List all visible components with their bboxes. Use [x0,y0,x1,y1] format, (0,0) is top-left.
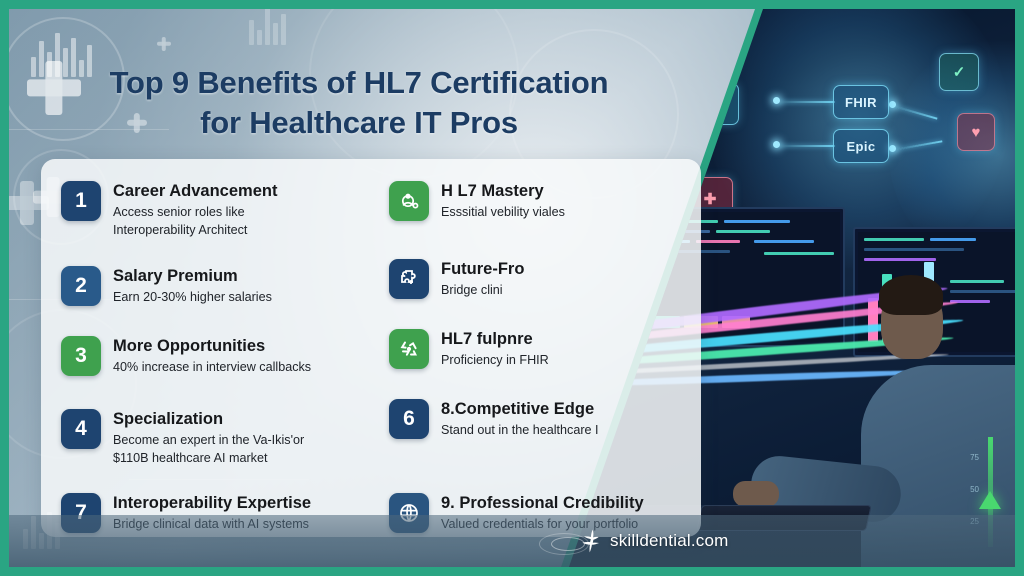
benefit-heading: H L7 Mastery [441,182,565,201]
benefit-item-3[interactable]: 3 More Opportunities 40% increase in int… [61,336,311,377]
puzzle-cross-icon [389,259,429,299]
benefit-item-hl7-fhir[interactable]: HL7 fulpnre Proficiency in FHIR [389,329,549,370]
network-link [777,101,835,103]
poster-canvas: FHIR Epic ▲ ✚ ⌂ ✚ ▣ ✓ ♥ [9,9,1015,567]
user-network-icon [389,181,429,221]
network-link [777,145,835,147]
network-node-dot [889,145,896,152]
network-node-epic: Epic [833,129,889,163]
benefit-number-badge: 6 [389,399,429,439]
benefit-subtext: Proficiency in FHIR [441,352,549,370]
person-hand [733,481,779,507]
benefit-item-future-proof[interactable]: Future-Fro Bridge clini [389,259,524,300]
person-hair [879,275,943,315]
page-title: Top 9 Benefits of HL7 Certification for … [9,63,709,142]
benefit-heading: More Opportunities [113,337,311,356]
benefit-number-badge: 3 [61,336,101,376]
benefit-item-hl7-mastery[interactable]: H L7 Mastery Esssitial vebility viales [389,181,565,222]
benefit-number-badge: 2 [61,266,101,306]
medical-cross-icon [157,37,171,51]
benefit-heading: Salary Premium [113,267,272,286]
network-node-dot [773,97,780,104]
network-node-epic-label: Epic [846,139,875,154]
growth-arrow-icon [979,491,1001,509]
benefit-subtext: Bridge clini [441,282,524,300]
benefits-card: 1 Career Advancement Access senior roles… [41,159,701,537]
benefit-subtext: Esssitial vebility viales [441,204,565,222]
benefit-subtext: 40% increase in interview callbacks [113,359,311,377]
brand-name: skilldential.com [610,531,728,551]
recycle-icon [389,329,429,369]
benefit-item-1[interactable]: 1 Career Advancement Access senior roles… [61,181,277,240]
benefit-subtext: Stand out in the healthcare I [441,422,599,440]
footer-bar [9,515,1015,567]
benefit-heading: Specialization [113,410,304,429]
network-node-dot [773,141,780,148]
axis-tick-label: 50 [970,485,979,494]
skilldential-bird-icon [581,529,603,553]
benefit-item-4[interactable]: 4 Specialization Become an expert in the… [61,409,304,468]
benefit-heading: 8.Competitive Edge [441,400,599,419]
brand-logo[interactable]: skilldential.com [581,529,728,553]
benefit-subtext: Become an expert in the Va-Ikis'or $110B… [113,432,304,468]
network-node-dot [889,101,896,108]
benefit-heading: Career Advancement [113,182,277,201]
benefit-heading: Interoperability Expertise [113,494,311,513]
benefit-number-badge: 1 [61,181,101,221]
benefit-subtext: Earn 20-30% higher salaries [113,289,272,307]
heart-icon: ♥ [957,113,995,151]
page-title-line-1: Top 9 Benefits of HL7 Certification [9,63,709,103]
benefit-item-competitive-edge[interactable]: 6 8.Competitive Edge Stand out in the he… [389,399,599,440]
shield-check-icon: ✓ [939,53,979,91]
benefit-heading: 9. Professional Credibility [441,494,644,513]
benefit-heading: HL7 fulpnre [441,330,549,349]
benefit-number-badge: 4 [61,409,101,449]
axis-tick-label: 75 [970,453,979,462]
network-node-fhir-label: FHIR [845,95,877,110]
benefit-subtext: Access senior roles like Interoperabilit… [113,204,277,240]
page-title-line-2: for Healthcare IT Pros [9,103,709,143]
outer-teal-frame: FHIR Epic ▲ ✚ ⌂ ✚ ▣ ✓ ♥ [0,0,1024,576]
benefit-heading: Future-Fro [441,260,524,279]
benefit-item-2[interactable]: 2 Salary Premium Earn 20-30% higher sala… [61,266,272,307]
bar-chart-glyph-icon [249,9,286,45]
network-node-fhir: FHIR [833,85,889,119]
